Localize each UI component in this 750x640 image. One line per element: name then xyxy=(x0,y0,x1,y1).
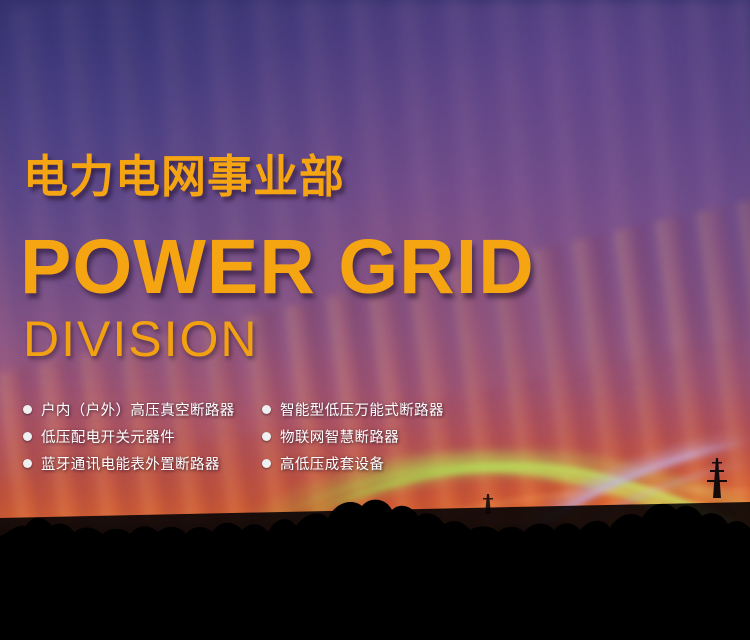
feature-label: 物联网智慧断路器 xyxy=(280,426,399,447)
bullet-dot-icon xyxy=(262,405,271,414)
bullet-dot-icon xyxy=(23,459,32,468)
bullet-dot-icon xyxy=(262,432,271,441)
feature-item-6: 高低压成套设备 xyxy=(262,453,444,474)
power-grid-banner: 电力电网事业部 POWER GRID DIVISION 户内（户外）高压真空断路… xyxy=(0,0,750,640)
bullet-dot-icon xyxy=(23,405,32,414)
feature-item-2: 智能型低压万能式断路器 xyxy=(262,399,444,420)
feature-label: 蓝牙通讯电能表外置断路器 xyxy=(41,453,220,474)
feature-item-5: 蓝牙通讯电能表外置断路器 xyxy=(23,453,262,474)
feature-label: 高低压成套设备 xyxy=(280,453,384,474)
page-title-cn: 电力电网事业部 xyxy=(23,154,345,199)
page-subtitle-en: DIVISION xyxy=(23,314,258,364)
feature-item-4: 物联网智慧断路器 xyxy=(262,426,444,447)
feature-label: 户内（户外）高压真空断路器 xyxy=(41,399,235,420)
ground-fade xyxy=(0,520,750,640)
feature-label: 智能型低压万能式断路器 xyxy=(280,399,444,420)
bullet-dot-icon xyxy=(262,459,271,468)
feature-item-1: 户内（户外）高压真空断路器 xyxy=(23,399,262,420)
page-title-en: POWER GRID xyxy=(20,229,535,306)
feature-label: 低压配电开关元器件 xyxy=(41,426,175,447)
feature-list: 户内（户外）高压真空断路器 智能型低压万能式断路器 低压配电开关元器件 物联网智… xyxy=(23,396,444,477)
feature-item-3: 低压配电开关元器件 xyxy=(23,426,262,447)
bullet-dot-icon xyxy=(23,432,32,441)
power-pylon-icon xyxy=(707,458,727,498)
